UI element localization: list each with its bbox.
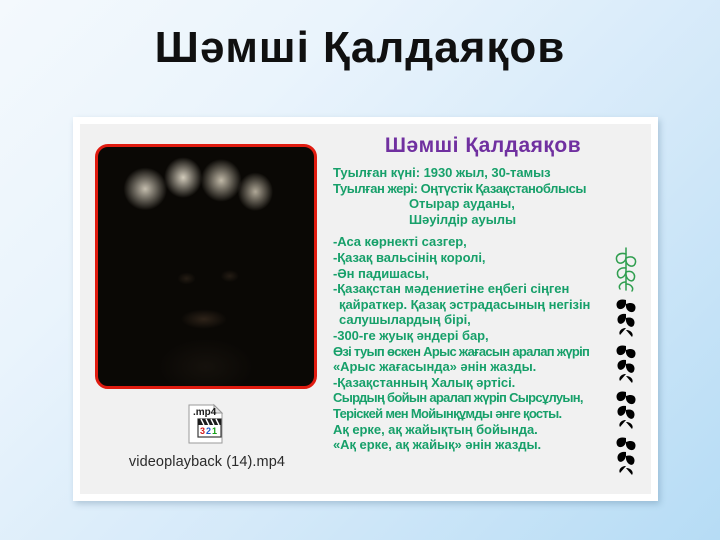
svg-text:.mp4: .mp4 bbox=[193, 407, 217, 418]
bio-line-fact-7: «Арыс жағасында» әнін жазды. bbox=[333, 359, 633, 375]
media-column: .mp4 3 2 1 videoplayback (14).mp4 bbox=[91, 136, 323, 492]
file-name-label: videoplayback (14).mp4 bbox=[91, 454, 323, 470]
svg-text:1: 1 bbox=[212, 426, 217, 436]
bio-line-district: Отырар ауданы, bbox=[333, 196, 633, 212]
bio-line-fact-1: -Аса көрнекті сазгер, bbox=[333, 234, 633, 250]
svg-text:3: 3 bbox=[200, 426, 205, 436]
bio-heading: Шәмші Қалдаяқов bbox=[333, 134, 633, 158]
bio-line-fact-11: Ақ ерке, ақ жайықтың бойында. bbox=[333, 422, 633, 438]
bio-line-fact-4: -Қазақстан мәдениетіне еңбегі сіңген bbox=[333, 281, 633, 297]
bio-line-fact-4b: қайраткер. Қазақ эстрадасының негізін bbox=[333, 297, 633, 313]
portrait-photo bbox=[95, 144, 317, 389]
video-file-item[interactable]: .mp4 3 2 1 videoplayback (14).mp4 bbox=[91, 402, 323, 470]
content-card: .mp4 3 2 1 videoplayback (14).mp4 bbox=[73, 117, 658, 501]
bio-line-birth-place: Туылған жері: Оңтүстік Қазақстаноблысы bbox=[333, 181, 633, 197]
bio-line-fact-9: Сырдың бойын аралап жүріп Сырсұлуын, bbox=[333, 390, 633, 406]
bio-line-fact-12: «Ақ ерке, ақ жайық» әнін жазды. bbox=[333, 437, 633, 453]
svg-text:2: 2 bbox=[206, 426, 211, 436]
bio-line-fact-6: Өзі туып өскен Арыс жағасын аралап жүріп bbox=[333, 344, 633, 360]
bio-line-fact-8: -Қазақстанның Халық әртісі. bbox=[333, 375, 633, 391]
biography-column: Шәмші Қалдаяқов Туылған күні: 1930 жыл, … bbox=[333, 134, 633, 453]
bio-line-birth-date: Туылған күні: 1930 жыл, 30-тамыз bbox=[333, 165, 633, 181]
page-title: Шәмші Қалдаяқов bbox=[0, 26, 720, 70]
portrait-image bbox=[98, 147, 314, 386]
bio-line-fact-5: -300-ге жуық әндері бар, bbox=[333, 328, 633, 344]
card-inner-panel: .mp4 3 2 1 videoplayback (14).mp4 bbox=[80, 124, 651, 494]
mp4-file-icon[interactable]: .mp4 3 2 1 bbox=[184, 402, 230, 446]
bio-line-village: Шәуілдір ауылы bbox=[333, 212, 633, 228]
floral-vine-ornament bbox=[609, 246, 643, 478]
bio-line-fact-2: -Қазақ вальсінің королі, bbox=[333, 250, 633, 266]
bio-line-fact-3: -Ән падишасы, bbox=[333, 266, 633, 282]
bio-line-fact-10: Теріскей мен Мойынқұмды әнге қосты. bbox=[333, 406, 633, 422]
bio-line-fact-4c: салушылардың бірі, bbox=[333, 312, 633, 328]
